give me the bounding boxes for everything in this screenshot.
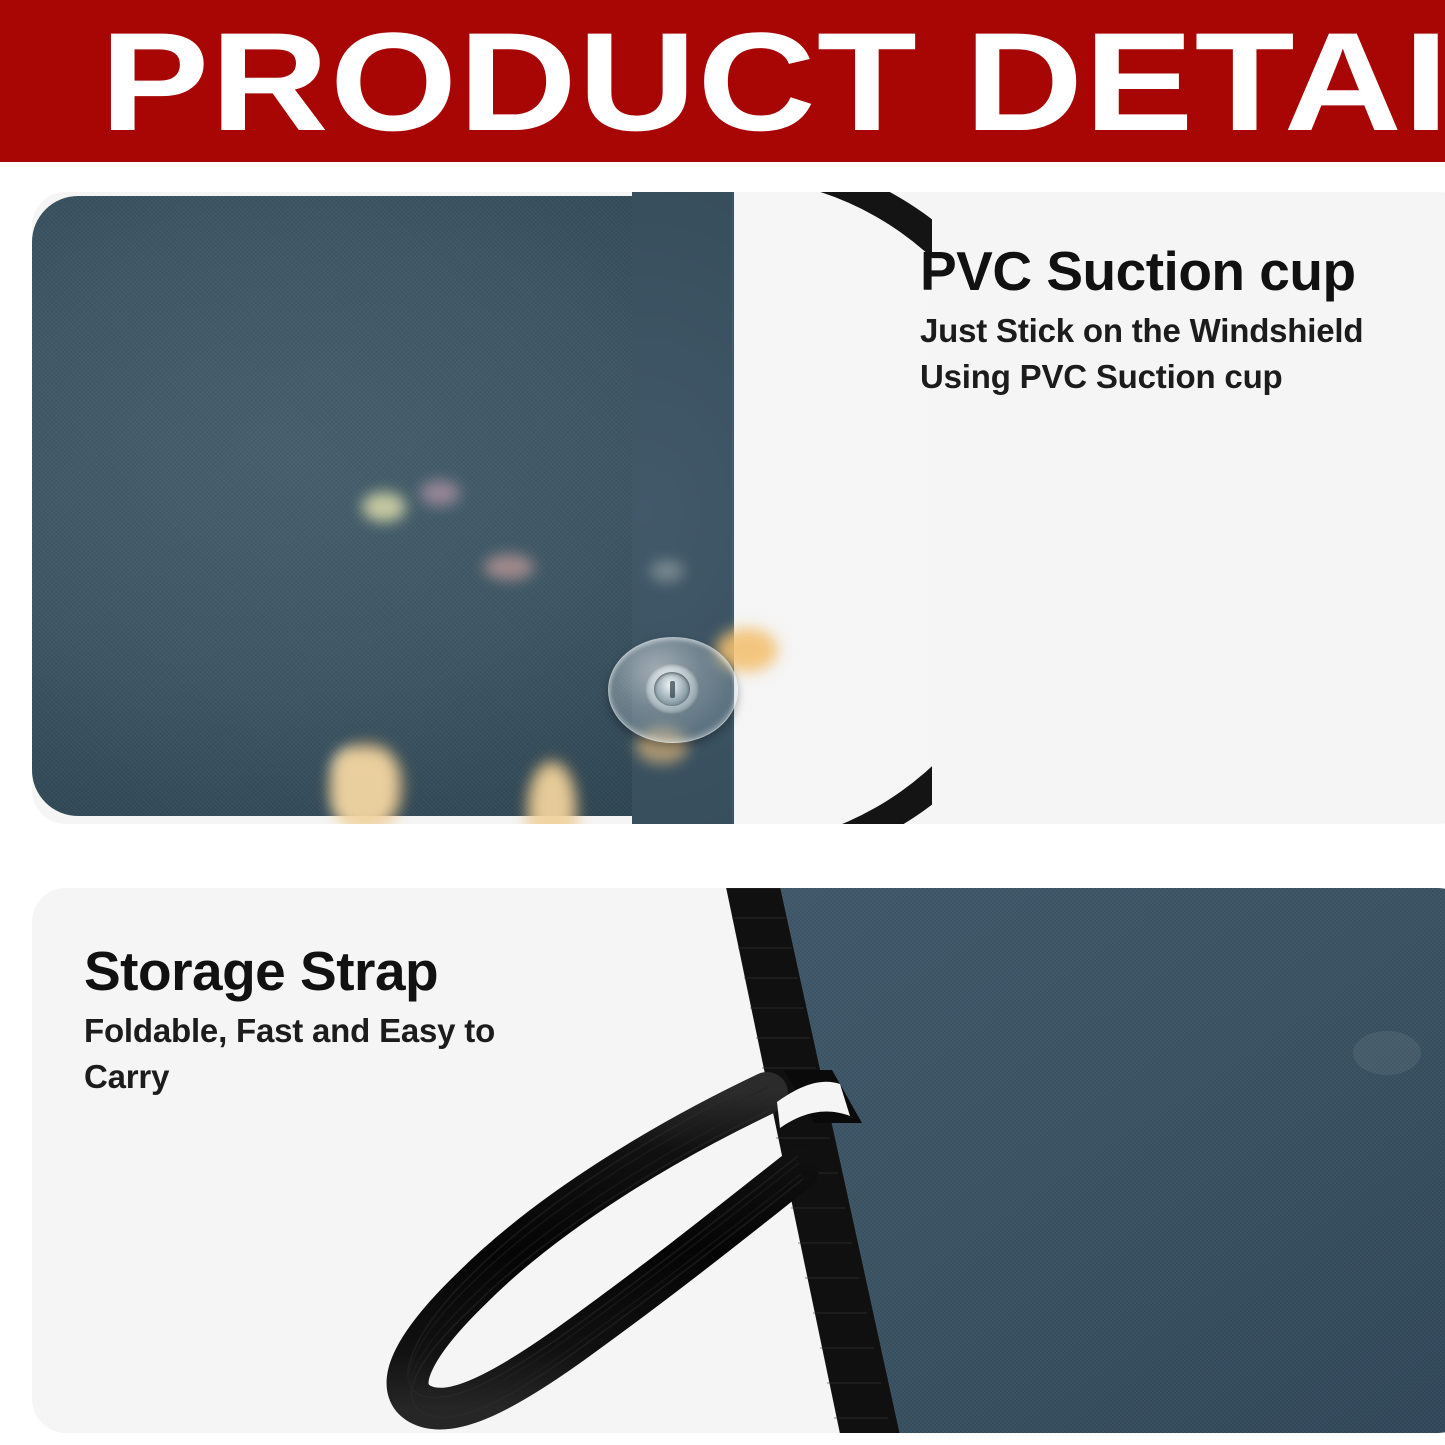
feature-card-storage-strap: Storage Strap Foldable, Fast and Easy to… — [32, 888, 1445, 1433]
feature-subtitle-line-1: Foldable, Fast and Easy to — [84, 1008, 564, 1054]
feature-text-pvc-suction-cup: PVC Suction cup Just Stick on the Windsh… — [920, 240, 1440, 400]
fabric-sheen — [1353, 1031, 1421, 1075]
suction-cup-grommet — [645, 664, 699, 714]
header-banner: PRODUCT DETAILS — [0, 0, 1445, 162]
feature-card-pvc-suction-cup: PVC Suction cup Just Stick on the Windsh… — [32, 192, 1445, 824]
feature-text-storage-strap: Storage Strap Foldable, Fast and Easy to… — [84, 940, 564, 1100]
feature-title: Storage Strap — [84, 940, 564, 1002]
feature-title: PVC Suction cup — [920, 240, 1440, 302]
suction-cup-slot — [670, 681, 675, 698]
page-title: PRODUCT DETAILS — [100, 2, 1445, 162]
sunshade-suction-cup-photo — [32, 192, 932, 824]
suction-cup-grommet-hole — [654, 672, 690, 706]
feature-subtitle-line-1: Just Stick on the Windshield — [920, 308, 1440, 354]
pvc-suction-cup — [608, 637, 738, 743]
feature-subtitle-line-2: Using PVC Suction cup — [920, 354, 1440, 400]
feature-subtitle-line-2: Carry — [84, 1054, 564, 1100]
black-binding-edge — [732, 192, 932, 824]
